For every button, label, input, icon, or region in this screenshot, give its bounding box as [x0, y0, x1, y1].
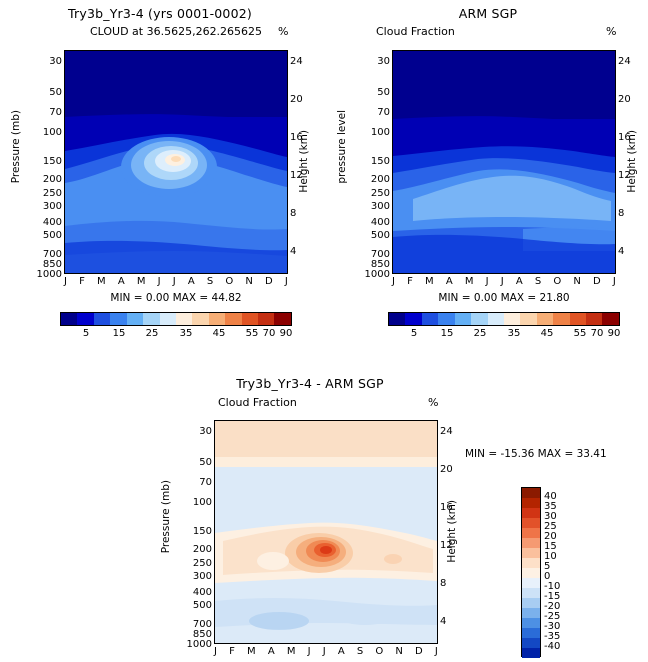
panel-obs-month-ticks: JFMAMJJASONDJ: [392, 276, 616, 290]
panel-model-title: Try3b_Yr3-4 (yrs 0001-0002): [10, 6, 310, 21]
panel-obs-minmax: MIN = 0.00 MAX = 21.80: [392, 292, 616, 304]
panel-model-contours: [65, 51, 287, 273]
panel-difference: Try3b_Yr3-4 - ARM SGP Cloud Fraction % P…: [150, 372, 510, 662]
panel-obs-units: %: [606, 25, 616, 38]
panel-model-minmax: MIN = 0.00 MAX = 44.82: [64, 292, 288, 304]
panel-difference-height-ticks: 24 20 16 12 8 4: [438, 420, 464, 644]
panel-obs-subtitle: Cloud Fraction: [376, 25, 455, 38]
panel-model-colorbar[interactable]: [60, 312, 292, 326]
panel-difference-colorbar[interactable]: [521, 487, 541, 657]
panel-difference-colorbar-labels: 40 35 30 25 20 15 10 5 0 -10 -15 -20 -25…: [544, 487, 584, 657]
panel-obs-title: ARM SGP: [338, 6, 638, 21]
panel-difference-title: Try3b_Yr3-4 - ARM SGP: [170, 376, 450, 391]
panel-difference-pressure-ticks: 30 50 70 100 150 200 250 300 400 500 700…: [174, 420, 214, 644]
panel-difference-minmax: MIN = -15.36 MAX = 33.41: [465, 448, 607, 460]
panel-obs-ylabel-left: pressure level: [336, 110, 348, 184]
panel-difference-plot[interactable]: [214, 420, 438, 644]
panel-obs-plot[interactable]: [392, 50, 616, 274]
panel-obs-colorbar[interactable]: [388, 312, 620, 326]
panel-obs-pressure-ticks: 30 50 70 100 150 200 250 300 400 500 700…: [352, 50, 392, 274]
panel-model-ylabel-left: Pressure (mb): [10, 110, 22, 183]
panel-model: Try3b_Yr3-4 (yrs 0001-0002) CLOUD at 36.…: [0, 0, 320, 345]
panel-difference-contours: [215, 421, 437, 643]
panel-model-month-ticks: JFMAMJJASONDJ: [64, 276, 288, 290]
panel-obs-height-ticks: 24 20 16 12 8 4: [616, 50, 642, 274]
panel-model-units: %: [278, 25, 288, 38]
panel-obs-contours: [393, 51, 615, 273]
panel-model-subtitle: CLOUD at 36.5625,262.265625: [56, 25, 296, 38]
panel-difference-subtitle: Cloud Fraction: [218, 396, 297, 409]
panel-model-plot[interactable]: [64, 50, 288, 274]
panel-model-pressure-ticks: 30 50 70 100 150 200 250 300 400 500 700…: [24, 50, 64, 274]
panel-obs: ARM SGP Cloud Fraction % pressure level …: [328, 0, 648, 345]
panel-difference-ylabel-left: Pressure (mb): [160, 480, 172, 553]
panel-model-height-ticks: 24 20 16 12 8 4: [288, 50, 314, 274]
panel-difference-units: %: [428, 396, 438, 409]
panel-difference-month-ticks: JFMAMJJASONDJ: [214, 646, 438, 660]
